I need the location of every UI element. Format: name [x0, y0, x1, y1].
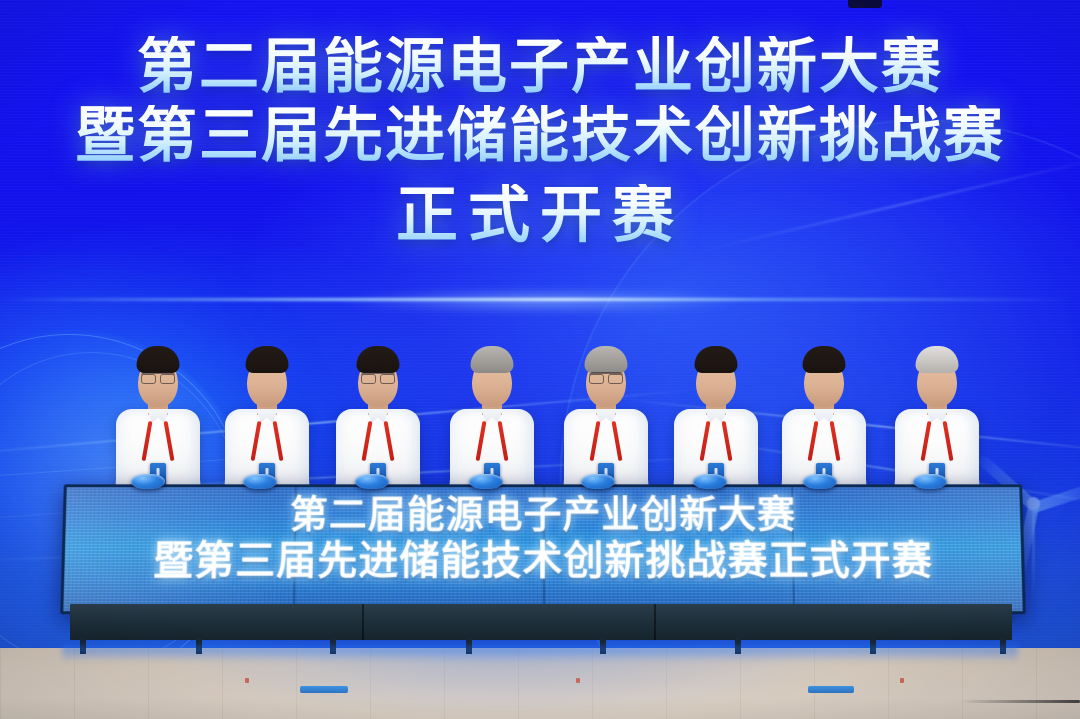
launch-push-button[interactable]: [913, 474, 947, 489]
launch-push-button[interactable]: [355, 474, 389, 489]
participant-hair: [916, 346, 959, 373]
console-base: [70, 604, 1012, 640]
launch-push-button[interactable]: [131, 474, 165, 489]
floor-marker-tape: [808, 686, 854, 693]
console-base-seam: [362, 604, 364, 640]
launch-push-button[interactable]: [243, 474, 277, 489]
participant-hair: [803, 346, 846, 373]
console-floor-glow: [62, 646, 1018, 662]
console-base-seam: [654, 604, 656, 640]
event-stage-photo: 第二届能源电子产业创新大赛 暨第三届先进储能技术创新挑战赛 正式开赛 第二届能源…: [0, 0, 1080, 719]
push-button-row: [0, 470, 1080, 496]
launch-push-button[interactable]: [693, 474, 727, 489]
ceiling-fixture-mark: [848, 0, 882, 8]
participant-hair: [246, 346, 289, 373]
led-line-2: 暨第三届先进储能技术创新挑战赛正式开赛: [64, 540, 1022, 583]
participant-hair: [585, 346, 628, 373]
launch-push-button[interactable]: [581, 474, 615, 489]
participant-hair: [471, 346, 514, 373]
participant-hair: [357, 346, 400, 373]
participant-glasses: [141, 372, 175, 383]
led-line-1: 第二届能源电子产业创新大赛: [65, 495, 1020, 536]
launch-push-button[interactable]: [803, 474, 837, 489]
participant-glasses: [361, 372, 395, 383]
led-panel-text: 第二届能源电子产业创新大赛 暨第三届先进储能技术创新挑战赛正式开赛: [64, 495, 1022, 583]
participant-glasses: [589, 372, 623, 383]
participant-hair: [695, 346, 738, 373]
floor-cable: [960, 700, 1080, 703]
floor-marker-dot: [245, 678, 249, 683]
led-console: 第二届能源电子产业创新大赛 暨第三届先进储能技术创新挑战赛正式开赛: [0, 470, 1080, 650]
led-panel-display: 第二届能源电子产业创新大赛 暨第三届先进储能技术创新挑战赛正式开赛: [60, 484, 1026, 614]
floor-marker-dot: [576, 678, 580, 683]
participant-hair: [137, 346, 180, 373]
launch-push-button[interactable]: [469, 474, 503, 489]
floor-marker-dot: [900, 678, 904, 683]
floor-marker-tape: [300, 686, 348, 693]
